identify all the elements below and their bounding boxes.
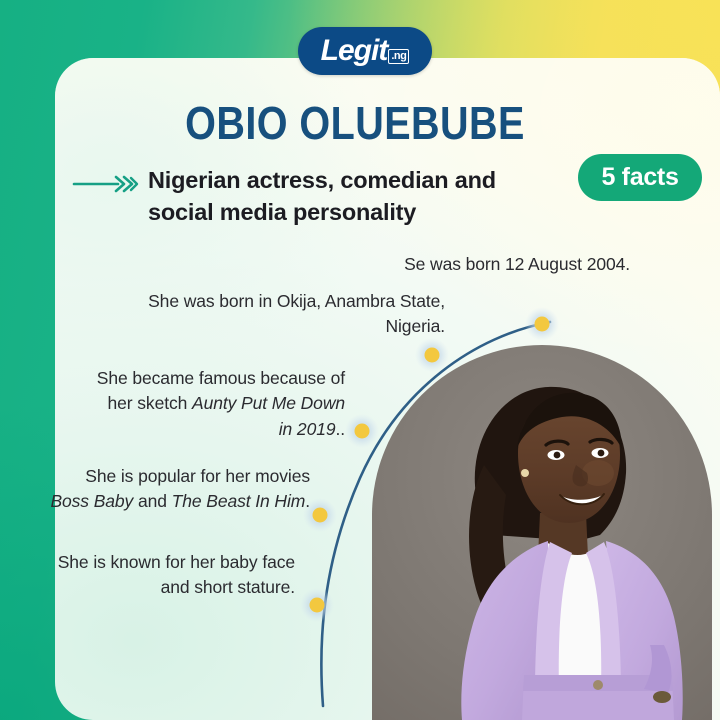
subtitle-line-1: Nigerian actress, comedian and: [148, 164, 496, 196]
facts-count-badge: 5 facts: [578, 154, 702, 201]
portrait-illustration: [372, 345, 712, 720]
subtitle-row: Nigerian actress, comedian and social me…: [72, 164, 572, 229]
fact-movies-text-before: She is popular for her movies: [85, 466, 310, 486]
subtitle: Nigerian actress, comedian and social me…: [148, 164, 496, 229]
button-icon: [593, 680, 603, 690]
infographic-canvas: Legit .ng OBIO OLUEBUBE Nigerian actress…: [0, 0, 720, 720]
logo-inner: Legit .ng: [321, 36, 410, 66]
fact-fame-text-after: ..: [335, 419, 345, 439]
logo-tld: .ng: [388, 49, 409, 64]
legit-logo[interactable]: Legit .ng: [298, 27, 432, 75]
fact-movies-title-1: Boss Baby: [50, 491, 133, 511]
fact-fame: She became famous because of her sketch …: [90, 366, 345, 442]
fact-movies-text-mid: and: [133, 491, 171, 511]
fact-birthplace: She was born in Okija, Anambra State, Ni…: [90, 289, 445, 340]
portrait-photo: [372, 345, 712, 720]
logo-wordmark: Legit: [321, 36, 388, 66]
fact-fame-sketch-title: Aunty Put Me Down in 2019: [192, 393, 345, 438]
timeline-dot: [300, 588, 334, 622]
fact-born-date: Se was born 12 August 2004.: [260, 252, 630, 277]
subtitle-line-2: social media personality: [148, 196, 496, 228]
watch-icon: [653, 691, 671, 703]
fact-movies-text-after: .: [305, 491, 310, 511]
fact-movies-title-2: The Beast In Him: [172, 491, 306, 511]
timeline-dot: [525, 307, 559, 341]
fact-movies: She is popular for her movies Boss Baby …: [50, 464, 310, 515]
arrow-right-chevrons-icon: [72, 174, 140, 194]
page-title: OBIO OLUEBUBE: [97, 96, 613, 150]
earring-icon: [521, 469, 529, 477]
fact-appearance: She is known for her baby face and short…: [35, 550, 295, 601]
